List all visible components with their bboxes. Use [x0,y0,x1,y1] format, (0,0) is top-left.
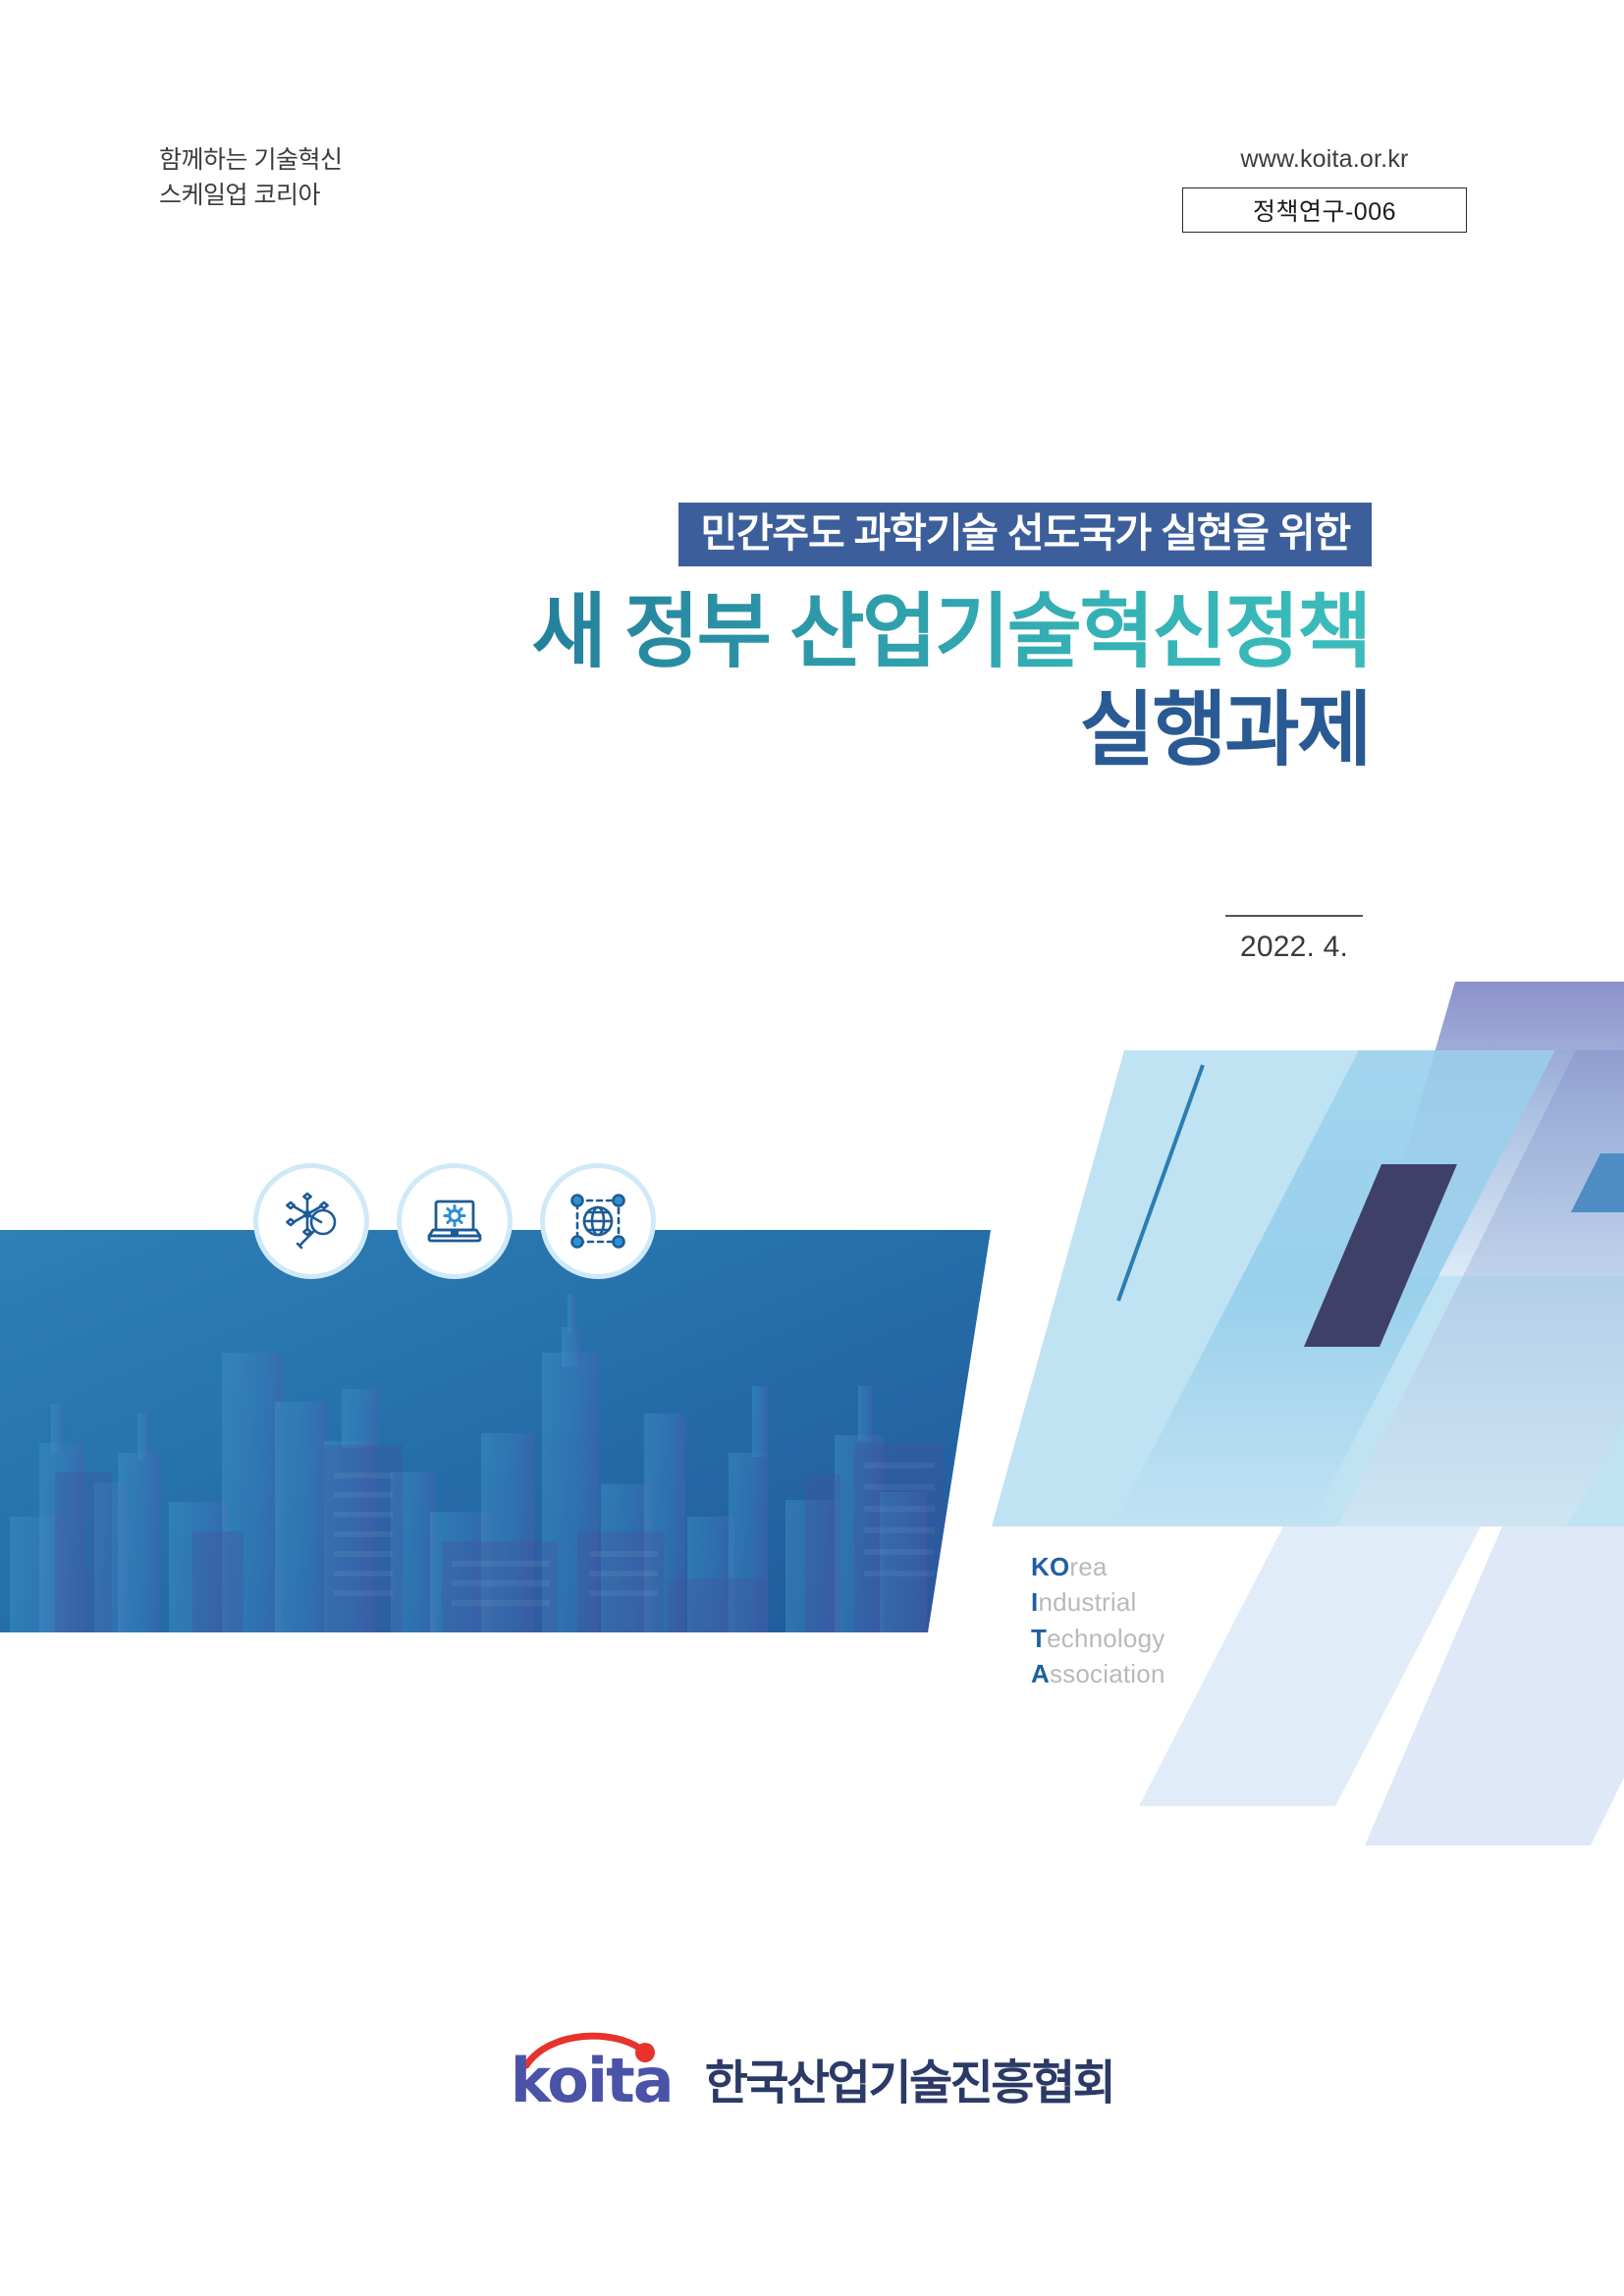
koita-wordmark: koita [511,2045,673,2116]
laptop-gear-icon [397,1163,513,1279]
acronym-rest-ssociation: ssociation [1050,1659,1165,1688]
date-divider-rule [1225,915,1363,917]
feature-icon-row [253,1163,656,1279]
navy-accent-bar [1304,1164,1457,1347]
acronym-bold-ko: KO [1031,1552,1069,1581]
acronym-bold-t: T [1031,1624,1047,1653]
document-code-box: 정책연구-006 [1182,187,1467,233]
acronym-rest-rea: rea [1069,1552,1107,1581]
diagonal-stripe-sky-lower [1139,1526,1624,1845]
light-blue-band [992,1050,1624,1526]
globe-network-icon [540,1163,656,1279]
document-code: 정책연구-006 [1253,192,1396,228]
thin-diagonal-line [1118,1065,1203,1301]
koita-logo-mark: koita [511,2022,685,2116]
publication-date-block: 2022. 4. [1211,915,1378,964]
header-right-block: www.koita.or.kr 정책연구-006 [1182,145,1467,233]
diagonal-stripes-over-band [1080,982,1624,1590]
document-cover-page: 함께하는 기술혁신 스케일업 코리아 www.koita.or.kr 정책연구-… [0,0,1624,2296]
header-tagline: 함께하는 기술혁신 스케일업 코리아 [159,143,342,213]
koita-acronym-block: KOrea Industrial Technology Association [1031,1549,1165,1692]
cover-title-line-2: 실행과제 [0,682,1372,778]
acronym-line-association: Association [1031,1656,1165,1691]
medium-blue-accent [1571,1153,1624,1212]
background-geometry [0,0,1624,2296]
organization-name: 한국산업기술진흥협회 [705,2044,1114,2116]
acronym-line-technology: Technology [1031,1621,1165,1656]
acronym-bold-a: A [1031,1659,1050,1688]
research-network-magnifier-icon [253,1163,369,1279]
cover-title-line-1: 새 정부 산업기술혁신정책 [0,584,1372,680]
website-url: www.koita.or.kr [1182,145,1467,174]
publication-date: 2022. 4. [1211,931,1378,964]
footer-logo-block: koita 한국산업기술진흥협회 [0,2022,1624,2116]
acronym-line-industrial: Industrial [1031,1584,1165,1620]
acronym-rest-ndustrial: ndustrial [1038,1587,1136,1617]
acronym-rest-echnology: echnology [1047,1624,1164,1653]
cover-title-block: 민간주도 과학기술 선도국가 실현을 위한 새 정부 산업기술혁신정책 실행과제 [0,503,1372,778]
diagonal-stripe-purple-top [1370,982,1624,1276]
acronym-line-korea: KOrea [1031,1549,1165,1584]
cover-subtitle: 민간주도 과학기술 선도국가 실현을 위한 [678,503,1372,566]
